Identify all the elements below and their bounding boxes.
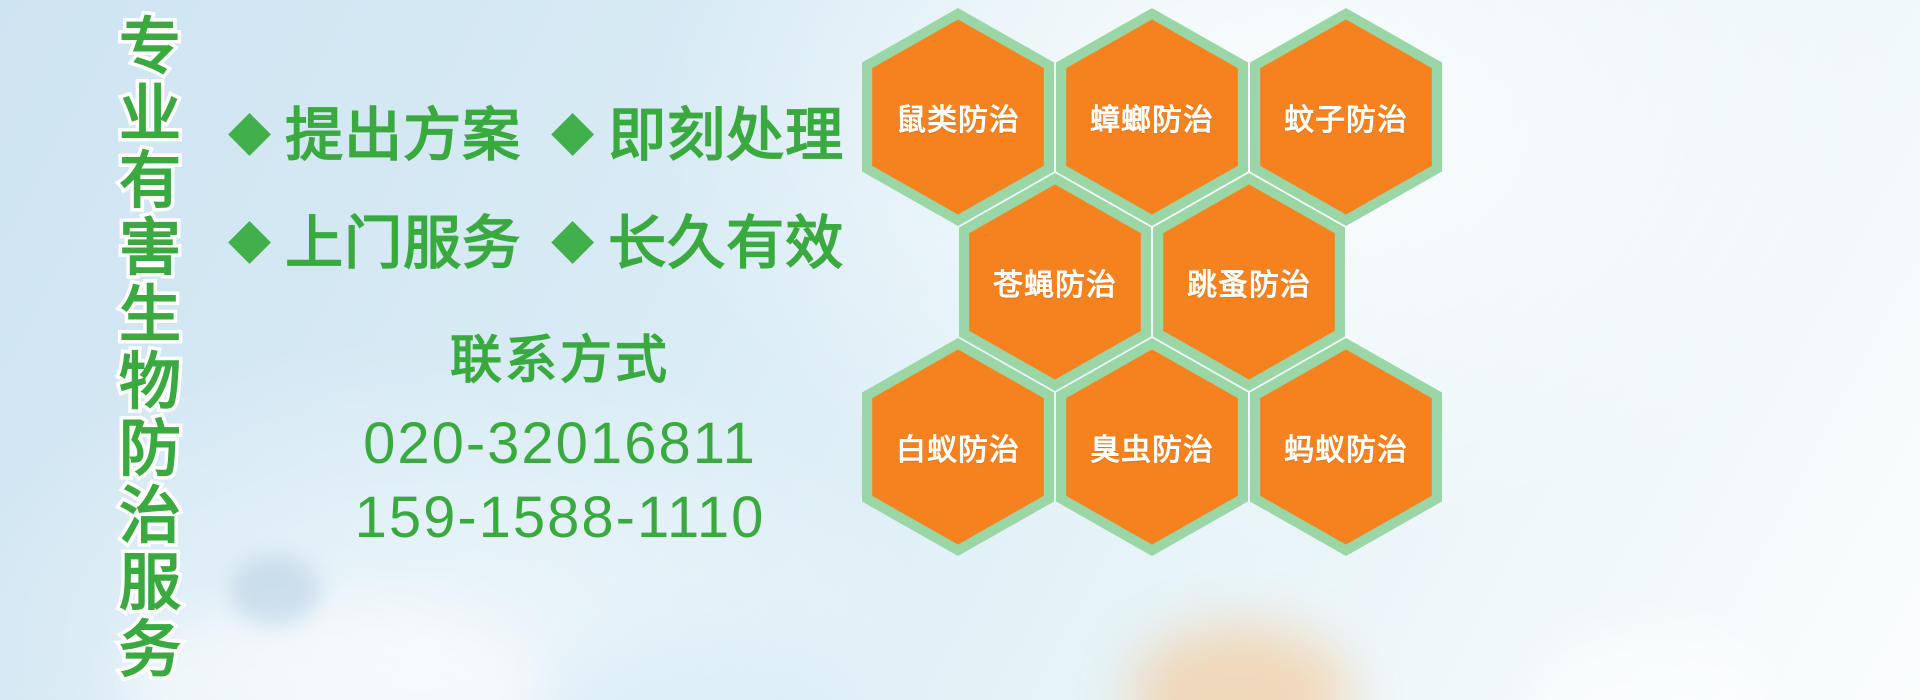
vertical-headline-char: 防 [119, 420, 181, 487]
feature-item-onsite-service: ◆ 上门服务 [228, 196, 521, 280]
feature-item-long-lasting: ◆ 长久有效 [551, 196, 844, 280]
vertical-headline-char: 物 [119, 353, 181, 420]
service-label: 苍蝇防治 [993, 260, 1117, 304]
service-honeycomb: 鼠类防治 蟑螂防治 蚊子防治 苍蝇防治 跳蚤防治 白蚁防治 [862, 8, 1442, 556]
vertical-headline: 专 业 有 害 生 物 防 治 服 务 [104, 18, 196, 688]
feature-row: ◆ 提出方案 ◆ 即刻处理 [228, 76, 868, 184]
feature-label: 提出方案 [285, 88, 521, 172]
contact-heading: 联系方式 [250, 318, 870, 393]
vertical-headline-char: 业 [119, 85, 181, 152]
background-blob [1130, 625, 1350, 700]
feature-label: 上门服务 [285, 196, 521, 280]
vertical-headline-char: 治 [119, 487, 181, 554]
background-blob [1520, 630, 1780, 700]
service-label: 蚂蚁防治 [1284, 425, 1408, 469]
vertical-headline-char: 务 [119, 621, 181, 688]
service-label: 跳蚤防治 [1187, 260, 1311, 304]
vertical-headline-char: 有 [119, 152, 181, 219]
background-blob [560, 640, 860, 700]
service-label: 鼠类防治 [896, 95, 1020, 139]
diamond-bullet-icon: ◆ [228, 210, 271, 266]
vertical-headline-char: 害 [119, 219, 181, 286]
vertical-headline-char: 服 [119, 554, 181, 621]
vertical-headline-char: 专 [119, 18, 181, 85]
contact-block: 联系方式 020-32016811 159-1588-1110 [250, 318, 870, 555]
phone-number-mobile[interactable]: 159-1588-1110 [250, 481, 870, 555]
feature-label: 长久有效 [608, 196, 844, 280]
feature-item-propose-plan: ◆ 提出方案 [228, 88, 521, 172]
phone-number-landline[interactable]: 020-32016811 [250, 407, 870, 481]
diamond-bullet-icon: ◆ [551, 210, 594, 266]
service-label: 白蚁防治 [896, 425, 1020, 469]
service-label: 蟑螂防治 [1090, 95, 1214, 139]
service-hex-bedbug[interactable]: 臭虫防治 [1056, 338, 1248, 556]
service-label: 臭虫防治 [1090, 425, 1214, 469]
feature-label: 即刻处理 [608, 88, 844, 172]
promo-banner: 专 业 有 害 生 物 防 治 服 务 ◆ 提出方案 ◆ 即刻处理 ◆ 上门服务 [0, 0, 1920, 700]
background-blob [230, 555, 320, 625]
service-hex-termite[interactable]: 白蚁防治 [862, 338, 1054, 556]
feature-item-immediate-handling: ◆ 即刻处理 [551, 88, 844, 172]
service-label: 蚊子防治 [1284, 95, 1408, 139]
feature-list: ◆ 提出方案 ◆ 即刻处理 ◆ 上门服务 ◆ 长久有效 [228, 76, 868, 292]
diamond-bullet-icon: ◆ [228, 102, 271, 158]
feature-row: ◆ 上门服务 ◆ 长久有效 [228, 184, 868, 292]
vertical-headline-char: 生 [119, 286, 181, 353]
diamond-bullet-icon: ◆ [551, 102, 594, 158]
service-hex-ant[interactable]: 蚂蚁防治 [1250, 338, 1442, 556]
